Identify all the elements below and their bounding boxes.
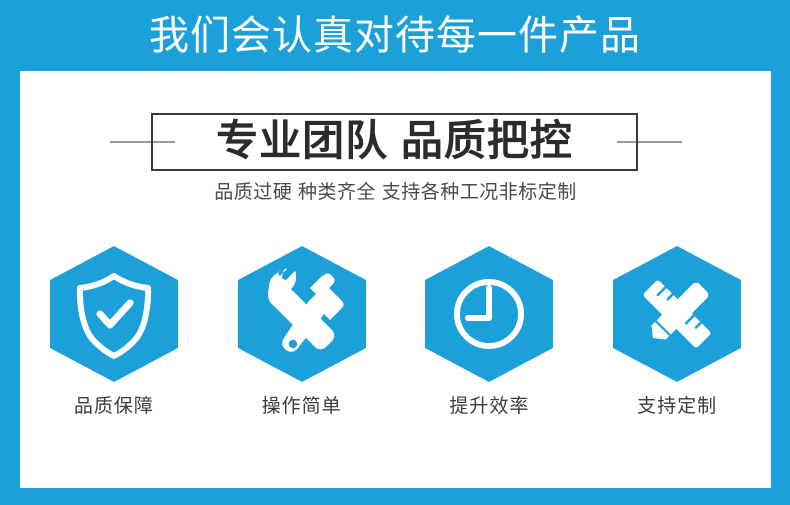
feature-item-easy-operation: 操作简单	[227, 246, 377, 418]
feature-item-quality: 品质保障	[39, 246, 189, 418]
feature-list: 品质保障	[20, 246, 771, 426]
feature-item-efficiency: 提升效率	[414, 246, 564, 418]
header-banner: 我们会认真对待每一件产品	[0, 0, 790, 71]
page-subtitle: 品质过硬 种类齐全 支持各种工况非标定制	[20, 181, 771, 205]
feature-label: 支持定制	[637, 396, 717, 418]
feature-item-customization: 支持定制	[602, 246, 752, 418]
content-panel: 专业团队 品质把控 品质过硬 种类齐全 支持各种工况非标定制 品质保障	[20, 71, 771, 488]
banner-headline: 我们会认真对待每一件产品	[149, 14, 641, 58]
feature-label: 品质保障	[74, 396, 154, 418]
page-title: 专业团队 品质把控	[216, 119, 573, 163]
promo-banner-page: 我们会认真对待每一件产品 专业团队 品质把控 品质过硬 种类齐全 支持各种工况非…	[0, 0, 790, 505]
title-block: 专业团队 品质把控 品质过硬 种类齐全 支持各种工况非标定制	[20, 71, 771, 201]
shield-check-icon	[50, 246, 178, 382]
title-box: 专业团队 品质把控	[151, 113, 638, 171]
ruler-pen-icon	[613, 246, 741, 382]
wrench-hammer-icon	[238, 246, 366, 382]
clock-icon	[425, 246, 553, 382]
feature-label: 操作简单	[262, 396, 342, 418]
feature-label: 提升效率	[449, 396, 529, 418]
